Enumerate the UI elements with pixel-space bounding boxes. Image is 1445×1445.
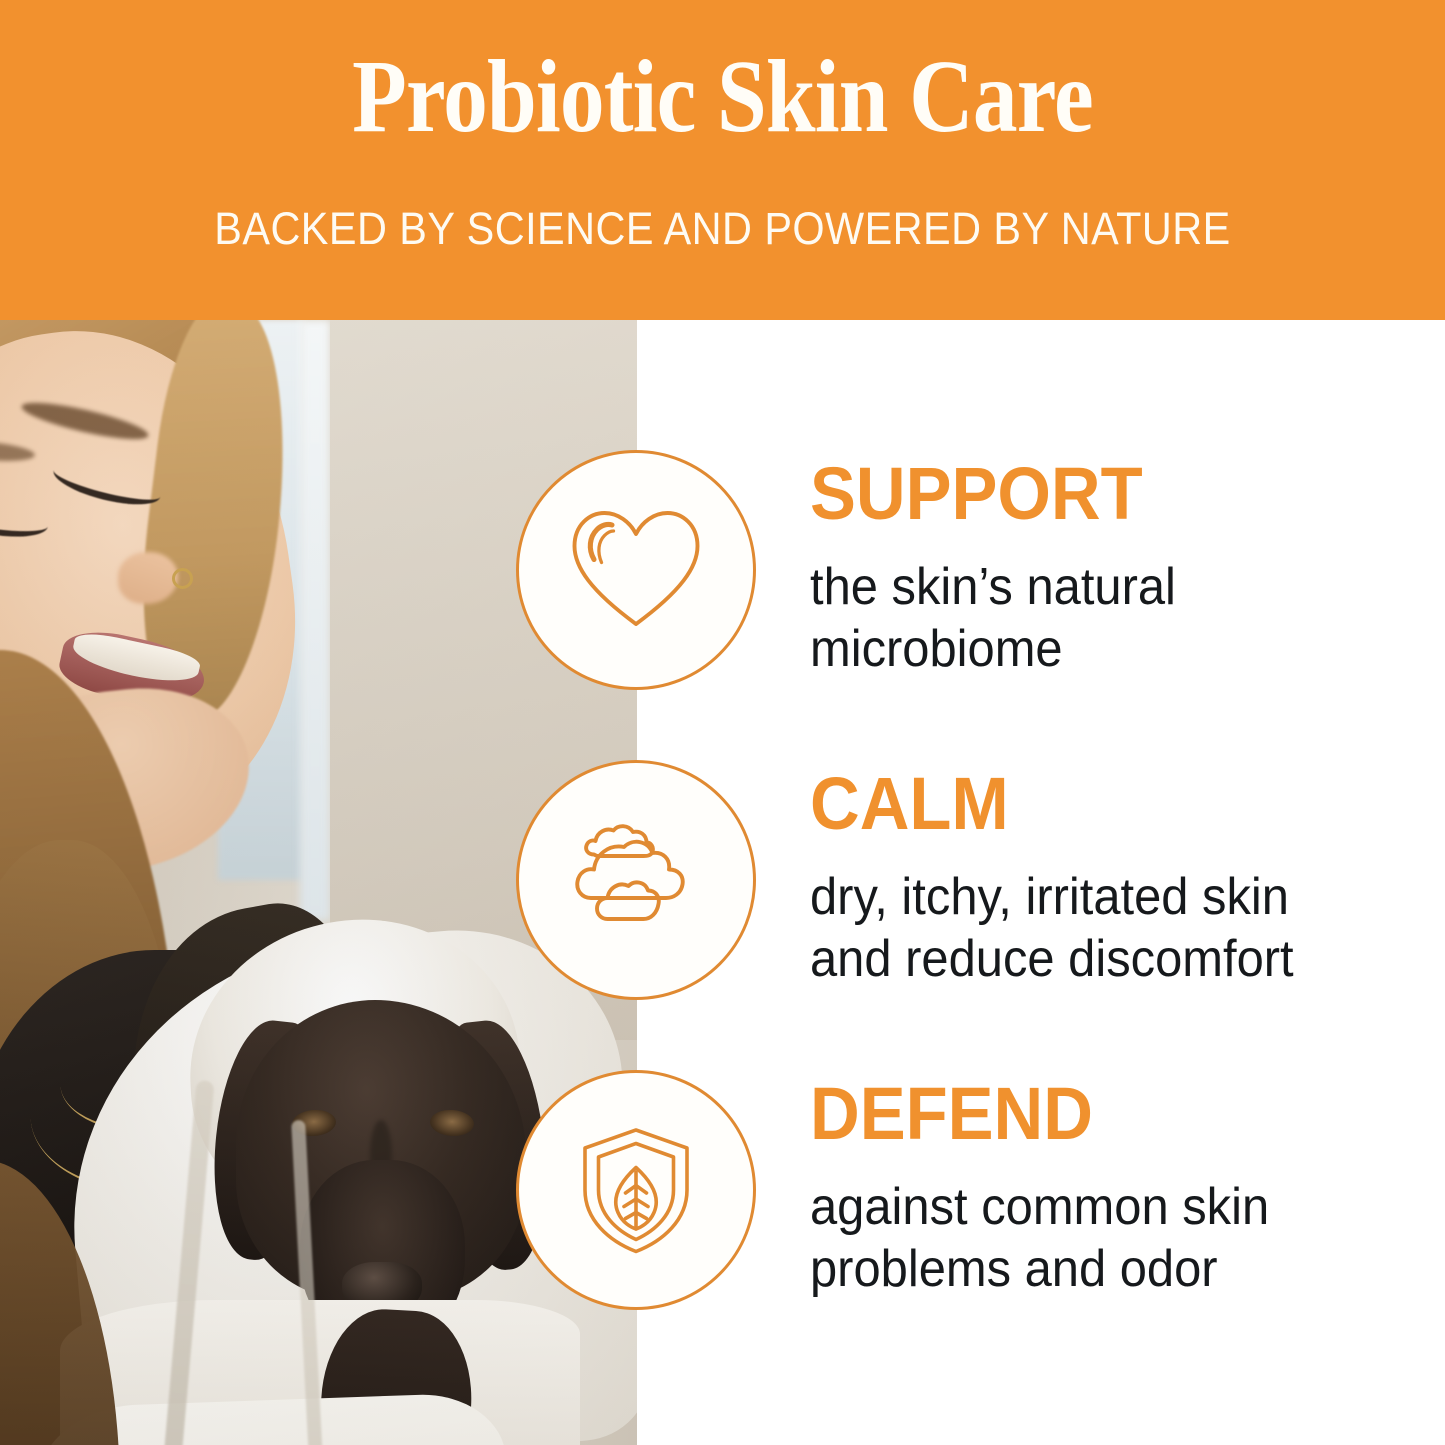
page-subtitle: BACKED BY SCIENCE AND POWERED BY NATURE — [58, 203, 1387, 255]
feature-support-text: SUPPORT the skin’s natural microbiome — [810, 456, 1445, 680]
feature-calm-body-line-1: dry, itchy, irritated skin — [810, 866, 1412, 928]
heart-icon — [561, 495, 711, 645]
feature-defend-body-line-2: problems and odor — [810, 1238, 1412, 1300]
page-title: Probiotic Skin Care — [101, 42, 1344, 152]
infographic-root: Probiotic Skin Care BACKED BY SCIENCE AN… — [0, 0, 1445, 1445]
shield-leaf-icon — [561, 1115, 711, 1265]
feature-defend-icon-badge — [516, 1070, 756, 1310]
feature-support-body: the skin’s natural microbiome — [810, 556, 1412, 680]
feature-calm-title: CALM — [810, 766, 1405, 842]
feature-defend-body-line-1: against common skin — [810, 1176, 1412, 1238]
feature-defend-text: DEFEND against common skin problems and … — [810, 1076, 1445, 1300]
feature-calm-body: dry, itchy, irritated skin and reduce di… — [810, 866, 1412, 990]
feature-support-body-line-2: microbiome — [810, 618, 1412, 680]
feature-calm-body-line-2: and reduce discomfort — [810, 928, 1412, 990]
feature-calm-text: CALM dry, itchy, irritated skin and redu… — [810, 766, 1445, 990]
header-band: Probiotic Skin Care BACKED BY SCIENCE AN… — [0, 0, 1445, 320]
feature-support-body-line-1: the skin’s natural — [810, 556, 1412, 618]
feature-support-icon-badge — [516, 450, 756, 690]
feature-defend-body: against common skin problems and odor — [810, 1176, 1412, 1300]
feature-support-title: SUPPORT — [810, 456, 1405, 532]
feature-calm-icon-badge — [516, 760, 756, 1000]
clouds-icon — [561, 805, 711, 955]
feature-defend-title: DEFEND — [810, 1076, 1405, 1152]
